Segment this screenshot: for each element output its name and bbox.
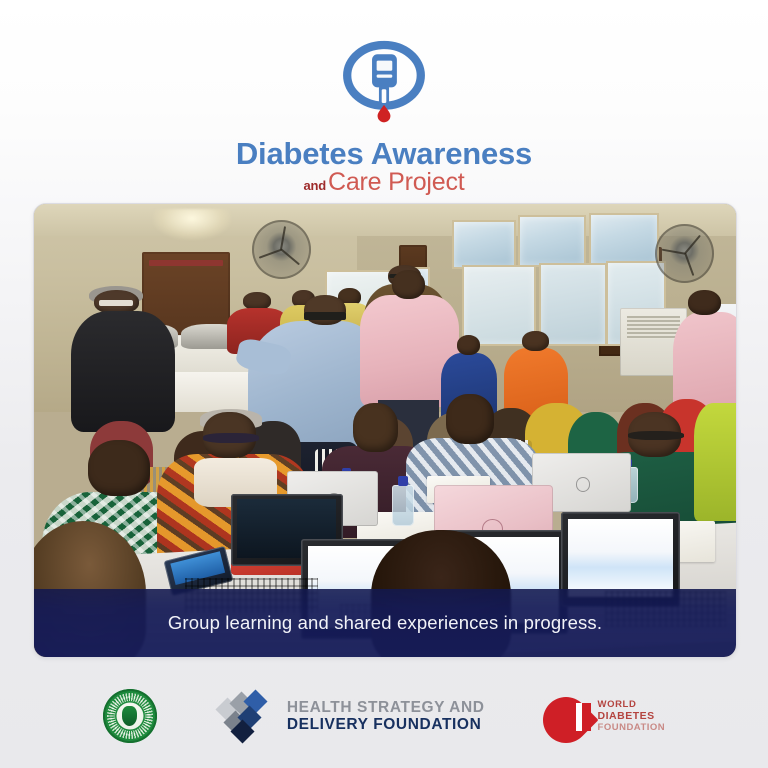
page-subtitle-main: Care Project [328,168,465,196]
hsdf-line-2: DELIVERY FOUNDATION [287,716,485,733]
poster-canvas: Diabetes Awareness andCare Project [0,0,768,768]
hsdf-line-1: HEALTH STRATEGY AND [287,699,485,716]
brand-header: Diabetes Awareness andCare Project [0,34,768,195]
hsdf-wordmark: HEALTH STRATEGY AND DELIVERY FOUNDATION [287,699,485,734]
partner-logo-hsdf: HEALTH STRATEGY AND DELIVERY FOUNDATION [219,693,485,739]
partner-logo-government [103,689,157,743]
photo-caption-text: Group learning and shared experiences in… [168,612,602,634]
wall-fan-left-icon [252,220,311,279]
page-subtitle: andCare Project [303,170,464,195]
window-1 [452,220,516,269]
person-yellow-edge [694,403,736,521]
person-standing-left [69,290,181,430]
diamond-cluster-icon [219,693,277,739]
photo-card: Group learning and shared experiences in… [33,203,737,658]
water-bottle-1 [392,485,414,526]
wdf-line-2: DIABETES [598,710,666,722]
person-pink-shirt-right [673,290,736,417]
wdf-line-3: FOUNDATION [598,722,666,733]
chandelier-light [153,209,230,241]
photo-caption-bar: Group learning and shared experiences in… [34,589,736,657]
page-title: Diabetes Awareness [236,138,532,169]
red-blood-drop-book-icon [543,689,589,743]
green-circular-government-seal-icon [103,689,157,743]
workshop-photo: Group learning and shared experiences in… [34,204,736,657]
window-2 [518,215,585,267]
wdf-line-1: WORLD [598,699,666,710]
window-3 [589,213,660,267]
page-subtitle-and: and [303,178,326,193]
partner-logos-row: HEALTH STRATEGY AND DELIVERY FOUNDATION … [0,676,768,756]
partner-logo-wdf: WORLD DIABETES FOUNDATION [543,689,666,743]
wdf-wordmark: WORLD DIABETES FOUNDATION [598,699,666,734]
glucometer-blood-drop-icon [338,34,430,126]
